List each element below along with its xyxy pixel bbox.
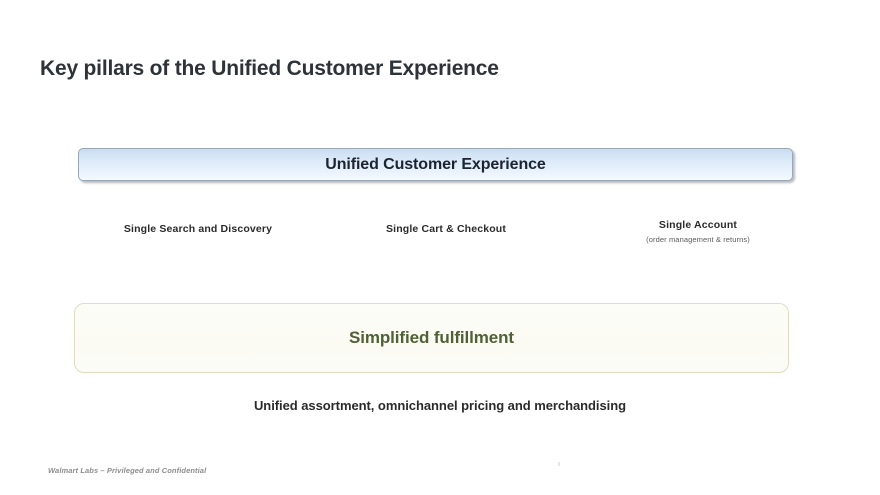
bottom-statement: Unified assortment, omnichannel pricing …: [0, 398, 880, 413]
slide-canvas: Key pillars of the Unified Customer Expe…: [0, 0, 880, 495]
pillar-label: Single Search and Discovery: [78, 222, 318, 237]
unified-customer-experience-banner: Unified Customer Experience: [78, 148, 793, 181]
simplified-fulfillment-box: Simplified fulfillment: [74, 303, 789, 373]
pillar-sublabel: (order management & returns): [578, 234, 818, 245]
footer-confidentiality-note: Walmart Labs – Privileged and Confidenti…: [48, 466, 206, 475]
pillar-label-row: Single Search and Discovery Single Cart …: [78, 222, 793, 262]
simplified-fulfillment-label: Simplified fulfillment: [349, 328, 514, 348]
pillar-single-search-and-discovery: Single Search and Discovery: [78, 222, 318, 237]
pillar-single-cart-and-checkout: Single Cart & Checkout: [326, 222, 566, 237]
pillar-single-account: Single Account (order management & retur…: [578, 218, 818, 245]
page-title: Key pillars of the Unified Customer Expe…: [40, 57, 499, 81]
pillar-label: Single Account: [578, 218, 818, 233]
page-artifact-mark: [558, 462, 560, 466]
unified-customer-experience-banner-label: Unified Customer Experience: [325, 156, 545, 174]
pillar-label: Single Cart & Checkout: [326, 222, 566, 237]
